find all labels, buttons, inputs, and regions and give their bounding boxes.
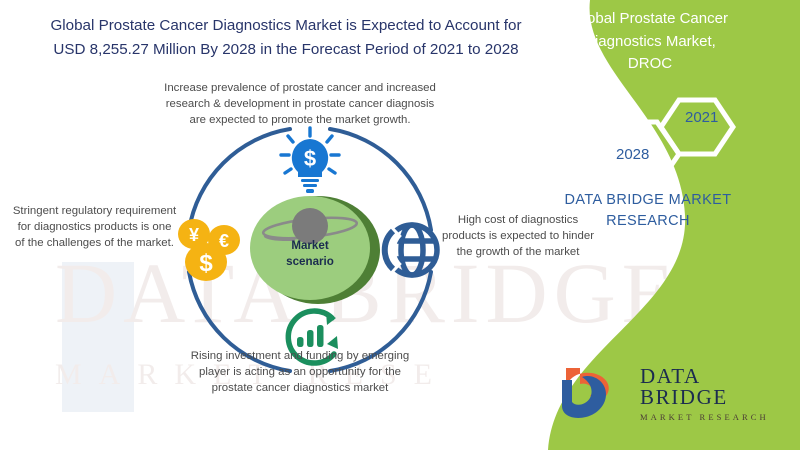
page-title: Global Prostate Cancer Diagnostics Marke… xyxy=(26,14,546,61)
logo-wordmark: DATA BRIDGE MARKET RESEARCH xyxy=(640,366,778,422)
caption-opportunities: Rising investment and funding by emergin… xyxy=(185,348,415,397)
globe-icon xyxy=(385,225,437,275)
hexagon-2028-label: 2028 xyxy=(616,146,649,163)
center-label-line-2: scenario xyxy=(262,254,358,270)
center-label-line-1: Market xyxy=(262,238,358,254)
svg-text:$: $ xyxy=(304,146,316,171)
page-title-line-2: USD 8,255.27 Million By 2028 in the Fore… xyxy=(26,38,546,62)
panel-heading-line-1: Global Prostate Cancer xyxy=(500,8,800,31)
svg-text:¥: ¥ xyxy=(189,225,199,245)
hexagon-2021-label: 2021 xyxy=(685,109,718,126)
svg-text:$: $ xyxy=(199,250,213,277)
hexagon-group: 2021 2028 xyxy=(575,84,760,199)
company-logo: DATA BRIDGE MARKET RESEARCH xyxy=(556,362,778,422)
panel-heading-line-2: Diagnostics Market, xyxy=(500,31,800,54)
caption-restraints: High cost of diagnostics products is exp… xyxy=(438,212,598,261)
data-bridge-logo-mark xyxy=(556,362,634,420)
hexagon-shapes xyxy=(575,84,760,199)
slide-canvas: DATA BRIDGE MARKET RESE Global Prostate … xyxy=(0,0,800,450)
logo-main-text: DATA BRIDGE xyxy=(640,366,778,408)
caption-challenges: Stringent regulatory requirement for dia… xyxy=(12,203,177,252)
panel-brand-line-1: DATA BRIDGE MARKET xyxy=(498,190,798,211)
panel-heading-line-3: DROC xyxy=(500,53,800,76)
center-label: Market scenario xyxy=(262,238,358,269)
page-title-line-1: Global Prostate Cancer Diagnostics Marke… xyxy=(26,14,546,38)
panel-heading: Global Prostate Cancer Diagnostics Marke… xyxy=(500,8,800,76)
logo-sub-text: MARKET RESEARCH xyxy=(640,413,778,422)
svg-text:€: € xyxy=(219,231,229,251)
caption-drivers: Increase prevalence of prostate cancer a… xyxy=(160,80,440,129)
lightbulb-dollar-icon: $ xyxy=(281,128,339,193)
